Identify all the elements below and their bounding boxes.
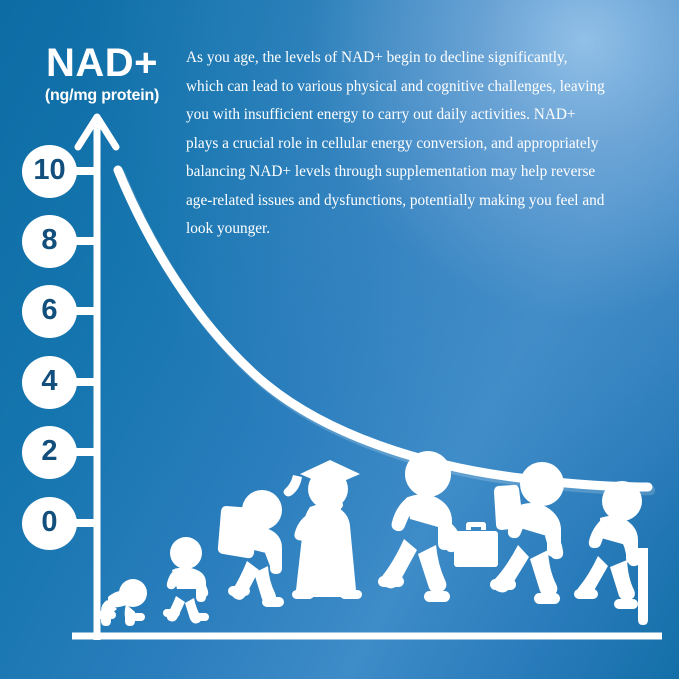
schoolchild-with-backpack-icon <box>218 490 284 607</box>
y-axis-label-8: 8 <box>22 215 77 268</box>
y-axis-label-10: 10 <box>22 145 77 198</box>
y-axis-label-6: 6 <box>22 285 77 338</box>
y-axis-label-4: 4 <box>22 356 77 409</box>
nad-decline-infographic: NAD+ (ng/mg protein) As you age, the lev… <box>0 0 679 679</box>
page-title: NAD+ <box>22 42 182 84</box>
businessman-with-briefcase-icon <box>378 451 498 602</box>
hunched-older-adult-icon <box>490 462 564 604</box>
crawling-baby-icon <box>96 579 147 626</box>
toddler-walking-icon <box>163 537 209 624</box>
graduate-with-diploma-icon <box>284 460 363 599</box>
y-axis-label-0: 0 <box>22 497 77 550</box>
chart-title-block: NAD+ (ng/mg protein) <box>22 42 182 105</box>
elderly-person-with-cane-icon <box>574 481 648 625</box>
y-axis-label-2: 2 <box>22 426 77 479</box>
description-paragraph: As you age, the levels of NAD+ begin to … <box>186 44 608 244</box>
chart-units-label: (ng/mg protein) <box>22 87 182 105</box>
